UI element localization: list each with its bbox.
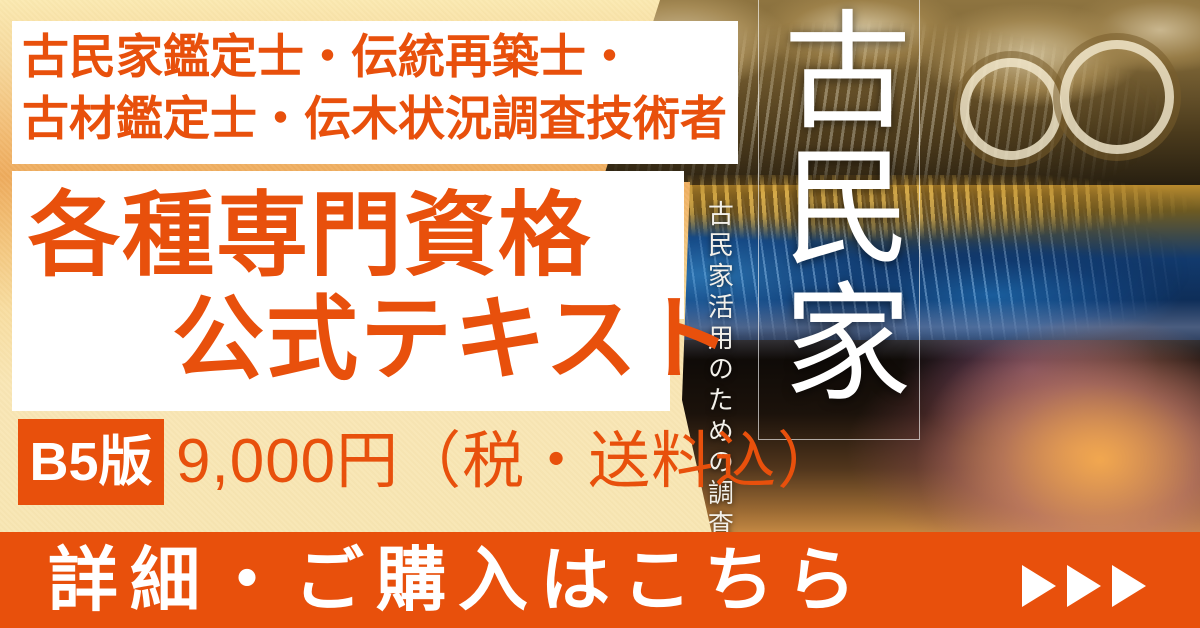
qualifications-text: 古民家鑑定士・伝統再築士・ 古材鑑定士・伝木状況調査技術者 [22, 26, 722, 150]
wood-curl-icon [960, 58, 1062, 160]
qualifications-line-2: 古材鑑定士・伝木状況調査技術者 [22, 88, 722, 150]
cta-arrows [1022, 565, 1146, 607]
chevron-right-icon [1112, 565, 1146, 607]
headline-line-2: 公式テキスト [172, 294, 733, 386]
price-text: 9,000円（税・送料込） [176, 425, 840, 499]
chevron-right-icon [1067, 565, 1101, 607]
cta-bar[interactable]: 詳細・ご購入はこちら [0, 532, 1200, 628]
size-badge: B5版 [18, 419, 164, 505]
wood-curl-icon [1060, 40, 1174, 154]
chevron-right-icon [1022, 565, 1056, 607]
cover-title: 古民家 [770, 4, 902, 412]
headline-line-1: 各種専門資格 [28, 190, 592, 282]
qualifications-line-1: 古民家鑑定士・伝統再築士・ [22, 30, 633, 83]
promo-banner: 古民家 伝統構法 古民家活用のための調査と再生の 古民家鑑定士・伝統再築士・ 古… [0, 0, 1200, 628]
cta-label: 詳細・ご購入はこちら [48, 538, 868, 622]
